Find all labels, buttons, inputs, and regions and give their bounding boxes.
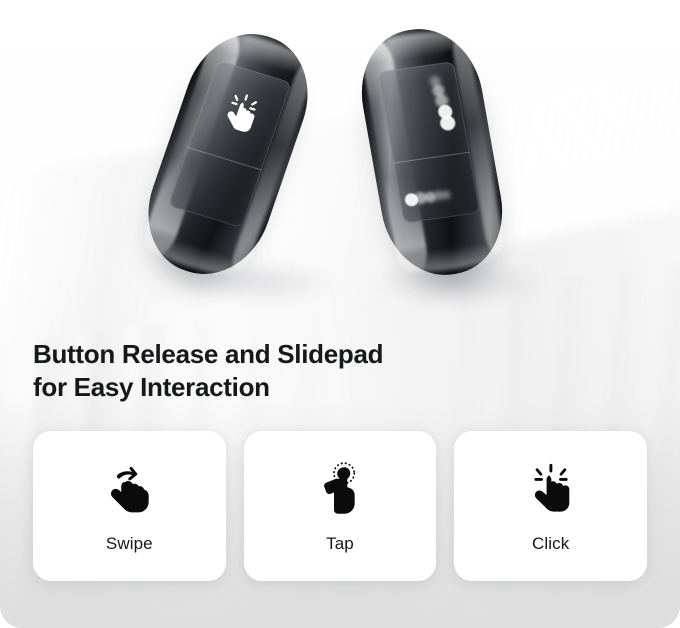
swipe-hand-icon — [100, 462, 158, 520]
tap-hand-icon — [311, 462, 369, 520]
gesture-label-swipe: Swipe — [106, 534, 153, 554]
device-ring-left — [130, 19, 326, 289]
gesture-card-tap[interactable]: Tap — [244, 431, 437, 581]
gesture-card-list: Swipe Tap — [33, 431, 647, 581]
slidepad-dot-trail-vertical — [427, 75, 462, 166]
gesture-card-swipe[interactable]: Swipe — [33, 431, 226, 581]
click-hand-icon — [211, 87, 270, 144]
hero-product-image — [0, 0, 680, 318]
promo-page: Button Release and Slidepad for Easy Int… — [0, 0, 680, 628]
device-ring-right — [351, 22, 513, 283]
page-title: Button Release and Slidepad for Easy Int… — [33, 338, 593, 404]
gesture-card-click[interactable]: Click — [454, 431, 647, 581]
click-hand-icon — [522, 462, 580, 520]
slidepad-dot-trail-horizontal — [404, 185, 458, 216]
gesture-label-click: Click — [532, 534, 569, 554]
gesture-label-tap: Tap — [326, 534, 354, 554]
ring-left-face-divider — [188, 148, 262, 171]
